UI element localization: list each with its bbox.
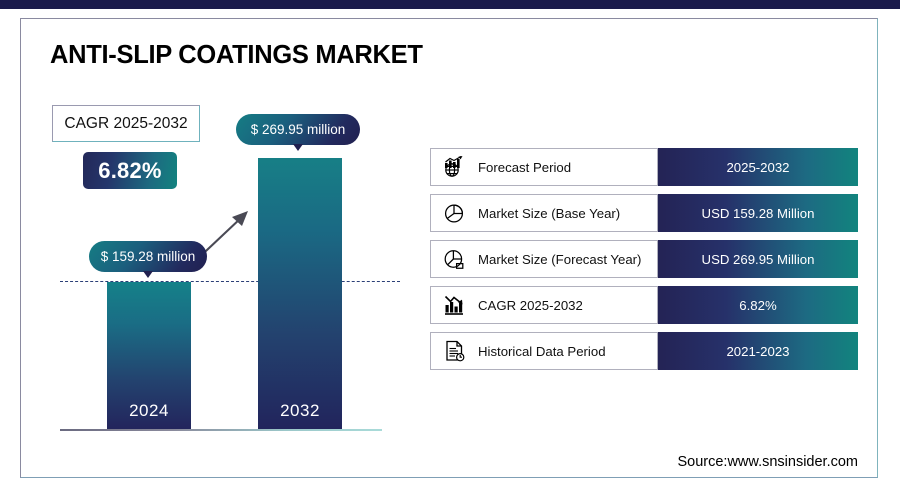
table-label-cell: Historical Data Period <box>430 332 658 370</box>
table-label-text: Market Size (Forecast Year) <box>478 252 641 267</box>
bar-label-2024: 2024 <box>107 401 191 421</box>
table-label-text: Forecast Period <box>478 160 571 175</box>
callout-2024: $ 159.28 million <box>89 241 207 272</box>
table-row: Historical Data Period 2021-2023 <box>430 332 858 370</box>
table-label-cell: Market Size (Base Year) <box>430 194 658 232</box>
table-value-cell: 2025-2032 <box>658 148 858 186</box>
page-title: ANTI-SLIP COATINGS MARKET <box>50 41 423 70</box>
table-value-cell: 2021-2023 <box>658 332 858 370</box>
table-label-cell: Market Size (Forecast Year) <box>430 240 658 278</box>
bar-chart-arrow-icon <box>440 292 468 318</box>
globe-growth-chart-icon <box>440 154 468 180</box>
chart-baseline-axis <box>60 429 382 431</box>
table-row: Market Size (Forecast Year) USD 269.95 M… <box>430 240 858 278</box>
top-accent-bar <box>0 0 900 9</box>
table-label-cell: CAGR 2025-2032 <box>430 286 658 324</box>
table-label-text: Historical Data Period <box>478 344 606 359</box>
metrics-table: Forecast Period 2025-2032 <box>430 148 858 378</box>
callout-2032: $ 269.95 million <box>236 114 360 145</box>
table-label-text: CAGR 2025-2032 <box>478 298 583 313</box>
document-clock-icon <box>440 338 468 364</box>
source-attribution: Source:www.snsinsider.com <box>677 454 858 470</box>
infographic-canvas: ANTI-SLIP COATINGS MARKET CAGR 2025-2032… <box>0 0 900 500</box>
table-row: Forecast Period 2025-2032 <box>430 148 858 186</box>
pie-chart-exploded-icon <box>440 246 468 272</box>
pie-chart-icon <box>440 200 468 226</box>
table-value-cell: USD 159.28 Million <box>658 194 858 232</box>
table-row: Market Size (Base Year) USD 159.28 Milli… <box>430 194 858 232</box>
bar-2032: 2032 <box>258 158 342 430</box>
table-label-text: Market Size (Base Year) <box>478 206 620 221</box>
table-label-cell: Forecast Period <box>430 148 658 186</box>
table-value-cell: USD 269.95 Million <box>658 240 858 278</box>
bar-label-2032: 2032 <box>258 401 342 421</box>
bar-2024: 2024 <box>107 282 191 430</box>
table-value-cell: 6.82% <box>658 286 858 324</box>
table-row: CAGR 2025-2032 6.82% <box>430 286 858 324</box>
